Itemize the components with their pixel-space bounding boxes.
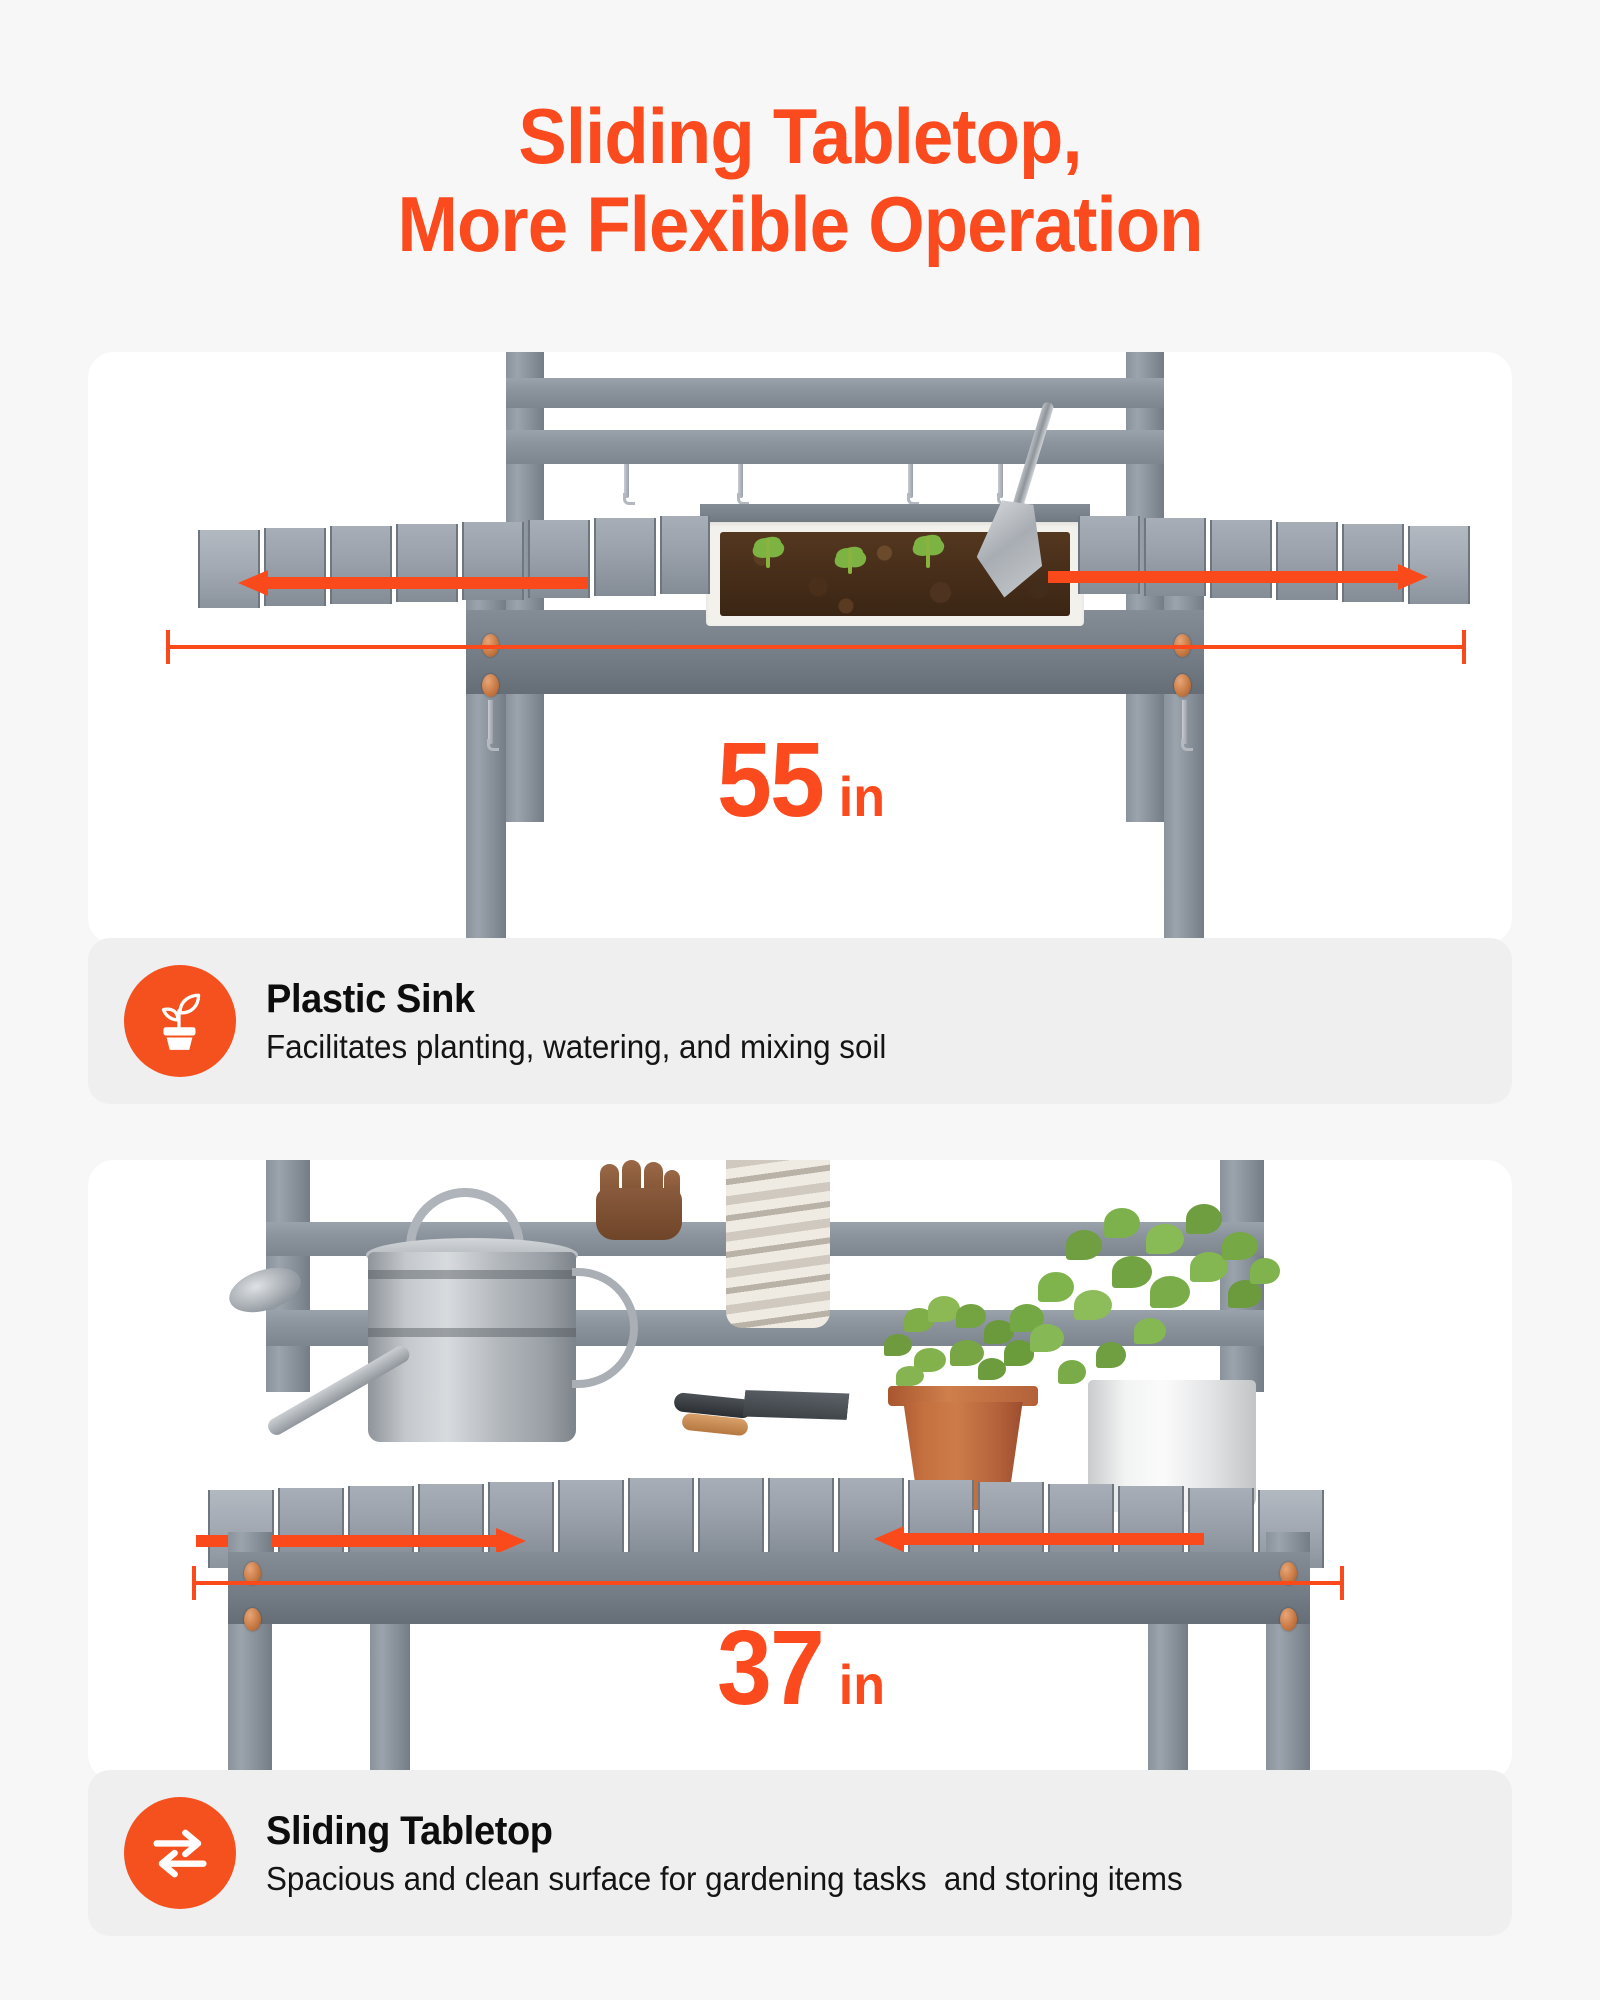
page-title: Sliding Tabletop, More Flexible Operatio… [0,92,1600,268]
screw [482,674,499,697]
potted-plant-icon [124,965,236,1077]
striped-towel [726,1160,830,1328]
tabletop-slat [628,1478,694,1556]
tabletop-slat [558,1480,624,1558]
feature-description: Facilitates planting, watering, and mixi… [266,1027,886,1067]
title-line-1: Sliding Tabletop, [56,92,1544,180]
tabletop-slat [768,1478,834,1556]
bench-back-rail-bottom [506,430,1164,464]
closed-tabletop-photo: 37in [88,1160,1512,1780]
dimension-tick-right [1462,630,1466,664]
feature-text: Plastic Sink Facilitates planting, water… [266,976,919,1067]
screw [1174,674,1191,697]
tabletop-slat [698,1478,764,1556]
dimension-bar [192,1581,1344,1585]
measurement-37in: 37in [88,1608,1512,1729]
dimension-line-55in [166,630,1466,664]
arrowhead [874,1526,904,1552]
dimension-bar [166,645,1466,649]
arrow-shaft [902,1533,1204,1545]
dimension-line-37in [192,1566,1344,1600]
potting-bench-closed: 37in [88,1160,1512,1780]
potting-bench-extended: 55in [88,352,1512,944]
seedling-3 [926,536,930,568]
tool-hook-2 [738,464,743,498]
seedling-2 [848,548,852,574]
feature-card-sliding-tabletop: Sliding Tabletop Spacious and clean surf… [88,1770,1512,1936]
feature-card-plastic-sink: Plastic Sink Facilitates planting, water… [88,938,1512,1104]
measurement-unit: in [839,764,885,829]
stem [848,548,852,574]
watering-can-band [368,1328,576,1337]
measurement-unit: in [839,1652,885,1717]
arrowhead [238,570,268,596]
title-line-2: More Flexible Operation [56,180,1544,268]
watering-can-side-handle [572,1268,638,1388]
arrow-shaft [1048,571,1400,583]
stem [926,536,930,568]
tool-hook-3 [908,464,913,498]
feature-text: Sliding Tabletop Spacious and clean surf… [266,1808,1231,1899]
arrow-left-icon [874,1526,1204,1552]
tool-hook-1 [624,464,629,498]
eucalyptus-foliage [1000,1194,1280,1394]
gardening-glove [596,1160,682,1246]
feature-title: Sliding Tabletop [266,1808,1183,1854]
feature-title: Plastic Sink [266,976,886,1022]
tool-hook-4 [998,464,1003,498]
arrow-left-icon [238,570,588,596]
arrowhead [1398,564,1428,590]
watering-can-band [368,1270,576,1279]
bidirectional-arrows-icon [124,1797,236,1909]
tabletop-slat [594,518,656,596]
tabletop-slat [198,530,260,608]
extended-tabletop-photo: 55in [88,352,1512,944]
dimension-tick-right [1340,1566,1344,1600]
pruning-shears-blade [743,1383,850,1428]
arrowhead [496,1528,526,1554]
glove-palm [596,1188,682,1240]
measurement-value: 55 [717,720,823,841]
bench-back-rail-top [506,378,1164,408]
measurement-55in: 55in [88,720,1512,841]
stem [766,538,770,568]
arrow-shaft [266,577,588,589]
tabletop-slat [1342,524,1404,602]
feature-description: Spacious and clean surface for gardening… [266,1859,1183,1899]
tabletop-slat [660,516,710,594]
seedling-1 [766,538,770,568]
arrow-right-icon [1048,564,1428,590]
measurement-value: 37 [717,1608,823,1729]
